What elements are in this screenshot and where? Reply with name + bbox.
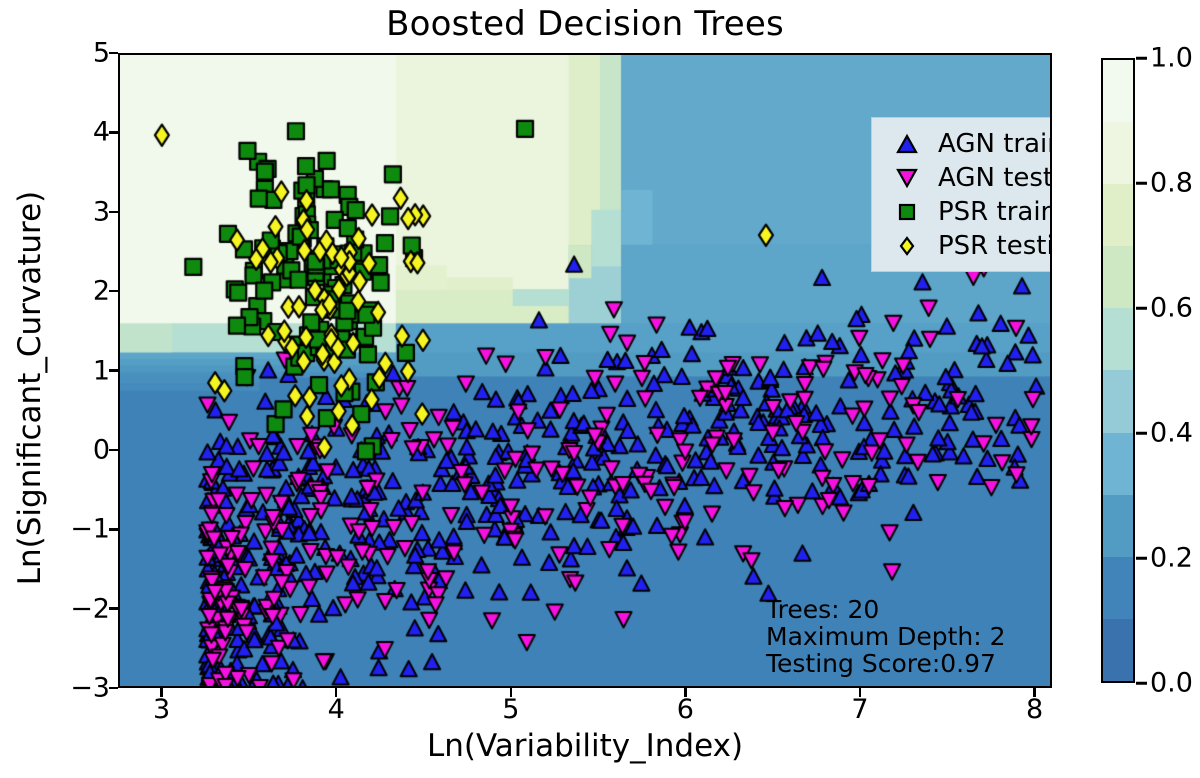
triangle-up-icon bbox=[884, 134, 930, 154]
x-tick-label: 6 bbox=[677, 694, 694, 725]
legend-label: PSR training bbox=[930, 197, 1052, 227]
x-tick-label: 5 bbox=[502, 694, 519, 725]
colorbar-segment bbox=[1103, 308, 1133, 370]
colorbar-tick-mark bbox=[1136, 57, 1147, 60]
colorbar bbox=[1101, 58, 1135, 683]
x-tick-label: 4 bbox=[328, 694, 345, 725]
legend: AGN training AGN testing PSR training PS… bbox=[871, 117, 1052, 272]
colorbar-segment bbox=[1103, 370, 1133, 432]
chart-title: Boosted Decision Trees bbox=[118, 4, 1052, 44]
chart-root: Boosted Decision Trees AGN training AGN … bbox=[0, 0, 1200, 778]
colorbar-tick-mark bbox=[1136, 432, 1147, 435]
y-tick-label: 5 bbox=[0, 38, 110, 69]
x-tick-mark bbox=[510, 688, 513, 697]
y-tick-mark bbox=[109, 449, 118, 452]
x-axis-label: Ln(Variability_Index) bbox=[118, 728, 1052, 764]
y-tick-mark bbox=[109, 369, 118, 372]
annotation-text: Trees: 20 Maximum Depth: 2 Testing Score… bbox=[766, 596, 1006, 677]
triangle-down-icon bbox=[884, 168, 930, 188]
colorbar-segment bbox=[1103, 433, 1133, 495]
colorbar-segment bbox=[1103, 246, 1133, 308]
colorbar-segment bbox=[1103, 184, 1133, 246]
legend-item-psr-training[interactable]: PSR training bbox=[884, 195, 1052, 229]
y-tick-mark bbox=[109, 687, 118, 690]
y-axis-label: Ln(Significant_Curvature) bbox=[12, 68, 48, 708]
colorbar-segment bbox=[1103, 495, 1133, 557]
diamond-icon bbox=[884, 236, 930, 256]
colorbar-tick-label: 1.0 bbox=[1150, 43, 1193, 74]
legend-item-psr-testing[interactable]: PSR testing bbox=[884, 229, 1052, 263]
colorbar-segment bbox=[1103, 60, 1133, 122]
y-tick-mark bbox=[109, 211, 118, 214]
colorbar-tick-mark bbox=[1136, 182, 1147, 185]
colorbar-segment bbox=[1103, 557, 1133, 619]
x-tick-mark bbox=[859, 688, 862, 697]
colorbar-tick-label: 0.0 bbox=[1150, 668, 1193, 699]
y-tick-mark bbox=[109, 528, 118, 531]
colorbar-tick-mark bbox=[1136, 307, 1147, 310]
x-tick-mark bbox=[335, 688, 338, 697]
legend-label: AGN training bbox=[930, 129, 1052, 159]
colorbar-tick-mark bbox=[1136, 557, 1147, 560]
square-icon bbox=[884, 202, 930, 222]
colorbar-tick-label: 0.6 bbox=[1150, 293, 1193, 324]
x-tick-label: 8 bbox=[1026, 694, 1043, 725]
colorbar-tick-mark bbox=[1136, 682, 1147, 685]
colorbar-tick-label: 0.4 bbox=[1150, 418, 1193, 449]
y-tick-mark bbox=[109, 290, 118, 293]
colorbar-segment bbox=[1103, 122, 1133, 184]
legend-label: AGN testing bbox=[930, 163, 1052, 193]
legend-item-agn-testing[interactable]: AGN testing bbox=[884, 161, 1052, 195]
colorbar-tick-label: 0.8 bbox=[1150, 168, 1193, 199]
legend-item-agn-training[interactable]: AGN training bbox=[884, 127, 1052, 161]
x-tick-mark bbox=[684, 688, 687, 697]
colorbar-segment bbox=[1103, 619, 1133, 681]
x-tick-label: 7 bbox=[851, 694, 868, 725]
y-tick-mark bbox=[109, 52, 118, 55]
x-tick-mark bbox=[1033, 688, 1036, 697]
y-tick-mark bbox=[109, 607, 118, 610]
plot-area: AGN training AGN testing PSR training PS… bbox=[118, 53, 1052, 688]
legend-label: PSR testing bbox=[930, 231, 1052, 261]
x-tick-label: 3 bbox=[153, 694, 170, 725]
y-tick-mark bbox=[109, 131, 118, 134]
x-tick-mark bbox=[160, 688, 163, 697]
colorbar-tick-label: 0.2 bbox=[1150, 543, 1193, 574]
